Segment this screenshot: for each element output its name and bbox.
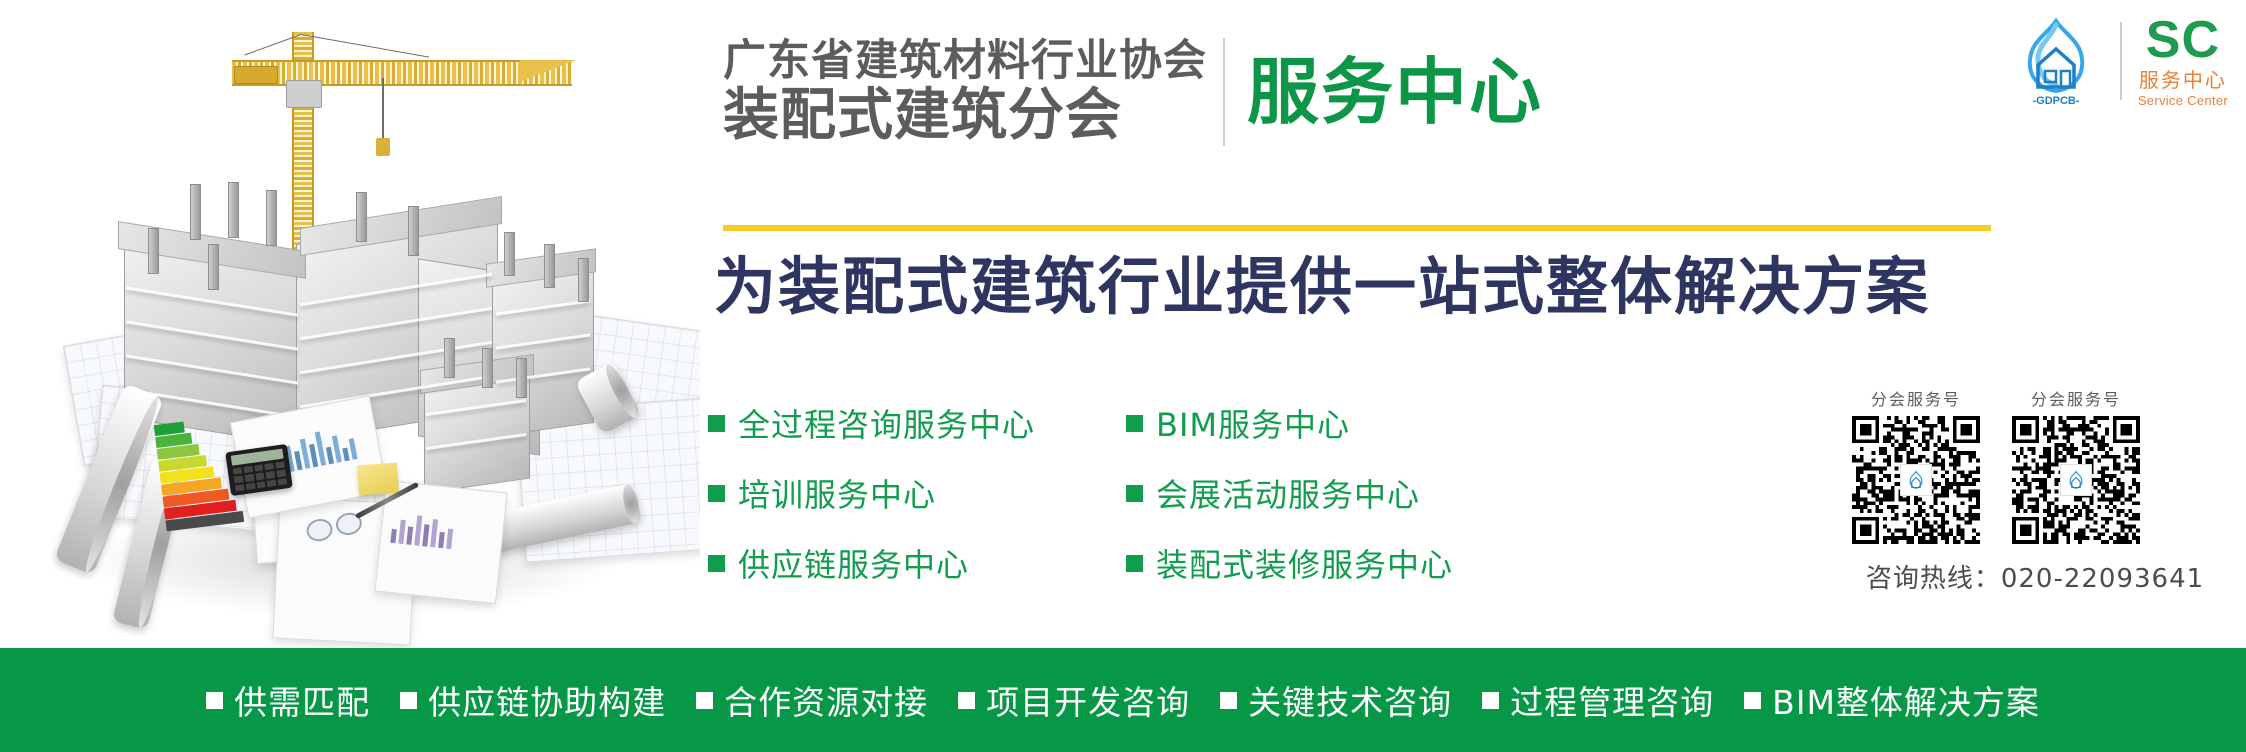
service-item-label: 全过程咨询服务中心 [738,400,1035,446]
bottom-bar-item[interactable]: 项目开发咨询 [958,676,1190,724]
square-bullet-icon [1126,555,1143,572]
title-vertical-divider [1223,38,1225,146]
content-panel: -GDPCB- SC 服务中心 Service Center 广东省建筑材料行业… [700,0,2246,648]
association-names: 广东省建筑材料行业协会 装配式建筑分会 [723,40,1207,144]
qr-code-2[interactable] [2012,416,2140,544]
page-headline: 为装配式建筑行业提供一站式整体解决方案 [714,256,1930,318]
bottom-bar-item[interactable]: 过程管理咨询 [1482,676,1714,724]
bottom-bar-items: 供需匹配 供应链协助构建 合作资源对接 项目开发咨询 关键技术咨询 过程管理咨询 [206,676,2040,724]
hero-construction-image [0,0,700,648]
association-title-block: 广东省建筑材料行业协会 装配式建筑分会 服务中心 [723,38,1543,146]
service-item[interactable]: BIM服务中心 [1126,398,1546,448]
square-bullet-icon [1744,692,1761,709]
service-item-label: 供应链服务中心 [738,540,969,586]
rebar-column [504,232,515,276]
rebar-column [578,258,589,302]
crane-hook-line [382,78,384,140]
rebar-column [516,358,527,398]
qr-code-cell: 分会服务号 [2012,386,2140,544]
association-name-line1: 广东省建筑材料行业协会 [723,40,1207,83]
calculator-keys [233,461,288,491]
bottom-bar-item[interactable]: 合作资源对接 [696,676,928,724]
square-bullet-icon [958,692,975,709]
square-bullet-icon [696,692,713,709]
square-bullet-icon [1126,485,1143,502]
qr-code-1[interactable] [1852,416,1980,544]
service-item[interactable]: 装配式装修服务中心 [1126,538,1546,588]
bottom-bar-label: 过程管理咨询 [1510,676,1714,724]
service-item-label: 培训服务中心 [738,470,936,516]
sticky-note [357,463,399,496]
svg-text:-GDPCB-: -GDPCB- [2032,95,2079,107]
hotline-text: 咨询热线：020-22093641 [1830,558,2240,595]
crane-counterweight-icon [234,66,278,84]
bar-chart-purple [390,509,454,549]
sc-logo-block: SC 服务中心 Service Center [2138,14,2228,107]
logo-divider [2120,22,2122,100]
bottom-bar-label: 供应链协助构建 [428,676,666,724]
association-name-line2: 装配式建筑分会 [723,88,1207,144]
calculator-icon [225,444,293,496]
qr-caption: 分会服务号 [1871,386,1961,410]
rebar-column [356,192,367,242]
bottom-bar-label: 供需匹配 [234,676,370,724]
logo-lockup: -GDPCB- SC 服务中心 Service Center [2008,14,2228,107]
rebar-column [228,182,239,238]
crane-hook-icon [376,138,390,156]
bottom-service-bar: 供需匹配 供应链协助构建 合作资源对接 项目开发咨询 关键技术咨询 过程管理咨询 [0,648,2246,752]
rebar-column [408,206,419,256]
crane-cab-icon [286,80,322,108]
service-item-label: 会展活动服务中心 [1156,470,1420,516]
bottom-bar-item[interactable]: BIM整体解决方案 [1744,676,2040,724]
qr-center-logo-icon [2060,464,2092,496]
sc-letters: SC [2146,14,2220,66]
yellow-divider-rule [723,225,1991,231]
rebar-column [482,348,493,388]
qr-code-row: 分会服务号 分会服务号 [1830,386,2240,544]
qr-center-logo-icon [1900,464,1932,496]
crane-tie-line-front [301,34,429,58]
bottom-bar-item[interactable]: 关键技术咨询 [1220,676,1452,724]
service-item[interactable]: 培训服务中心 [708,468,1126,518]
service-list-left: 全过程咨询服务中心 培训服务中心 供应链服务中心 [708,398,1126,608]
square-bullet-icon [400,692,417,709]
rebar-column [444,338,455,378]
bottom-bar-item[interactable]: 供需匹配 [206,676,370,724]
square-bullet-icon [1482,692,1499,709]
qr-code-cell: 分会服务号 [1852,386,1980,544]
square-bullet-icon [708,485,725,502]
crane-jib-taper-icon [520,60,576,82]
gdpcb-logo-icon: -GDPCB- [2008,15,2104,107]
service-list-right: BIM服务中心 会展活动服务中心 装配式装修服务中心 [1126,398,1546,608]
square-bullet-icon [1126,415,1143,432]
sc-chinese-label: 服务中心 [2139,71,2227,91]
square-bullet-icon [708,555,725,572]
square-bullet-icon [1220,692,1237,709]
qr-caption: 分会服务号 [2031,386,2121,410]
rebar-column [208,244,219,290]
hero-stage [0,0,700,648]
rebar-column [190,184,201,240]
service-item[interactable]: 全过程咨询服务中心 [708,398,1126,448]
bottom-bar-label: 项目开发咨询 [986,676,1190,724]
promotional-banner: -GDPCB- SC 服务中心 Service Center 广东省建筑材料行业… [0,0,2246,752]
sc-english-label: Service Center [2138,94,2228,107]
service-center-title: 服务中心 [1247,56,1543,128]
square-bullet-icon [708,415,725,432]
service-item[interactable]: 会展活动服务中心 [1126,468,1546,518]
service-item-label: 装配式装修服务中心 [1156,540,1453,586]
bottom-bar-item[interactable]: 供应链协助构建 [400,676,666,724]
service-item[interactable]: 供应链服务中心 [708,538,1126,588]
bottom-bar-label: 合作资源对接 [724,676,928,724]
qr-contact-area: 分会服务号 分会服务号 [1830,386,2240,595]
rebar-column [148,228,159,274]
service-item-label: BIM服务中心 [1156,400,1350,446]
service-list-columns: 全过程咨询服务中心 培训服务中心 供应链服务中心 BIM服务中心 [700,398,1546,608]
rebar-column [544,244,555,288]
bottom-bar-label: BIM整体解决方案 [1772,676,2040,724]
rebar-column [266,190,277,246]
square-bullet-icon [206,692,223,709]
bottom-bar-label: 关键技术咨询 [1248,676,1452,724]
